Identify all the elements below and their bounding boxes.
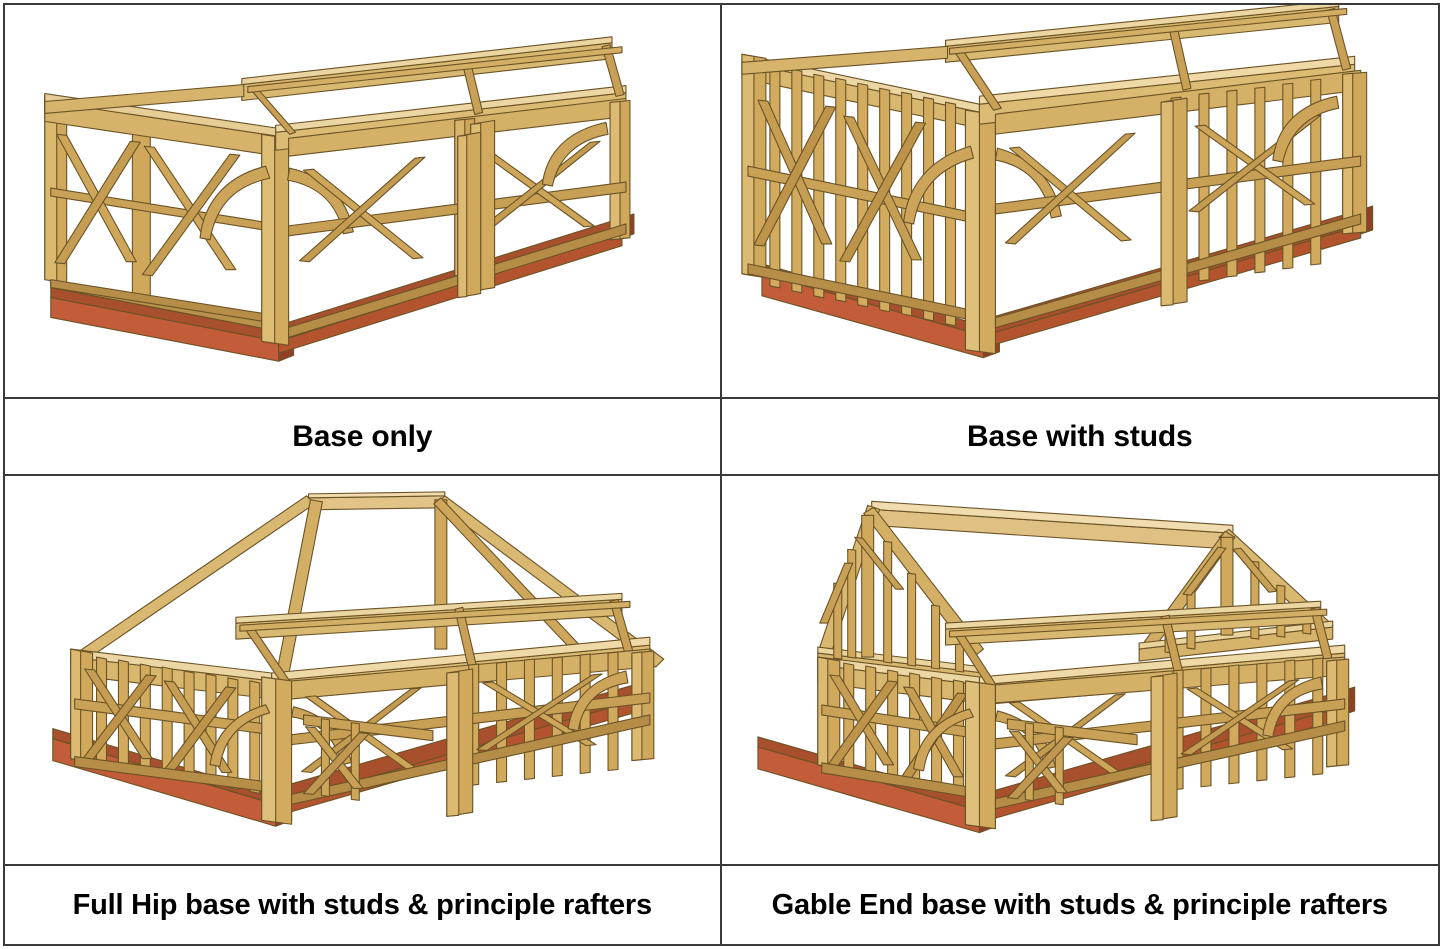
panel-grid: Base only Base with studs: [3, 3, 1440, 946]
base-only-illustration: [5, 5, 720, 397]
panel-image-base-only: [5, 5, 722, 397]
full-hip-base-illustration: [5, 476, 720, 864]
caption-gable-end-base: Gable End base with studs & principle ra…: [772, 890, 1388, 920]
caption-cell-base-only: Base only: [5, 397, 722, 476]
caption-base-with-studs: Base with studs: [967, 421, 1192, 453]
caption-base-only: Base only: [292, 421, 432, 453]
panel-image-gable-end-base: [722, 476, 1439, 864]
comparison-sheet: Base only Base with studs: [0, 0, 1445, 949]
caption-full-hip-base: Full Hip base with studs & principle raf…: [73, 890, 652, 920]
gable-end-base-illustration: [722, 476, 1439, 864]
caption-cell-full-hip-base: Full Hip base with studs & principle raf…: [5, 864, 722, 944]
panel-image-full-hip-base: [5, 476, 722, 864]
panel-image-base-with-studs: [722, 5, 1439, 397]
caption-cell-base-with-studs: Base with studs: [722, 397, 1439, 476]
caption-cell-gable-end-base: Gable End base with studs & principle ra…: [722, 864, 1439, 944]
base-with-studs-illustration: [722, 5, 1439, 397]
